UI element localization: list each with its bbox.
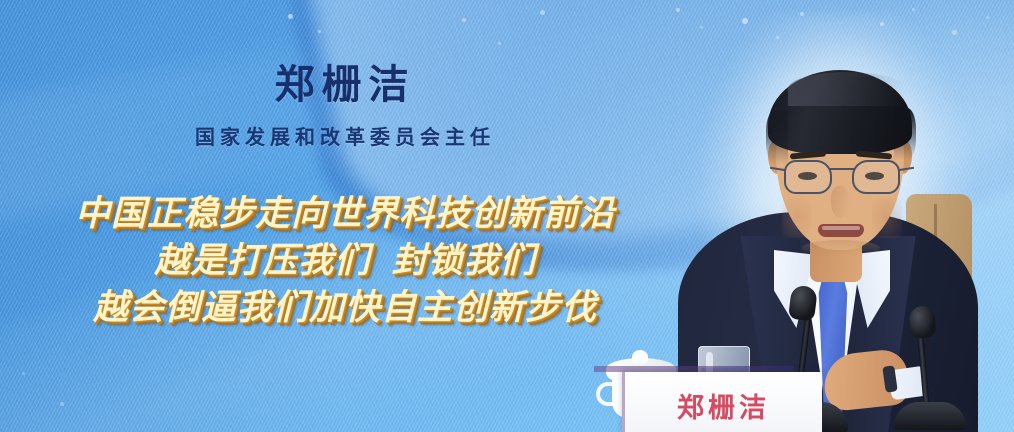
teeth (822, 226, 860, 230)
hair-highlight (788, 72, 906, 106)
hair-temple-right (894, 108, 916, 160)
eyeglasses-lens-right (852, 160, 900, 194)
eyeglasses-bridge (830, 168, 854, 170)
speaker-name: 郑栅洁 (0, 52, 690, 110)
headline-line-3: 越会倒逼我们加快自主创新步伐 (0, 284, 690, 331)
cheek-left (782, 198, 812, 238)
speaker-title: 国家发展和改革委员会主任 (0, 121, 690, 150)
eyeglasses-lens-left (784, 160, 832, 194)
microphone-left-head (788, 285, 818, 322)
microphone-right-base (894, 402, 966, 430)
headline-block: 中国正稳步走向世界科技创新前沿 越是打压我们 封锁我们 越会倒逼我们加快自主创新… (0, 190, 690, 331)
chin-shadow (802, 240, 880, 256)
cheek-right (872, 198, 902, 238)
nose (831, 186, 849, 218)
text-column: 郑栅洁 国家发展和改革委员会主任 中国正稳步走向世界科技创新前沿 越是打压我们 … (0, 0, 690, 432)
news-banner: 郑栅洁 郑栅洁 国家发展和改革委员会主任 中国正稳步走向世界科技创新前沿 越是打… (0, 0, 1014, 432)
headline-line-2: 越是打压我们 封锁我们 (0, 237, 690, 284)
microphone-right-head (909, 305, 937, 339)
headline-line-1: 中国正稳步走向世界科技创新前沿 (0, 190, 690, 237)
hair-temple-left (766, 110, 788, 164)
teacup-lid-knob (632, 350, 648, 364)
desk-objects: 郑栅洁 (594, 302, 1014, 432)
nameplate-name-text: 郑栅洁 (677, 386, 770, 425)
nameplate-card: 郑栅洁 (622, 372, 822, 432)
